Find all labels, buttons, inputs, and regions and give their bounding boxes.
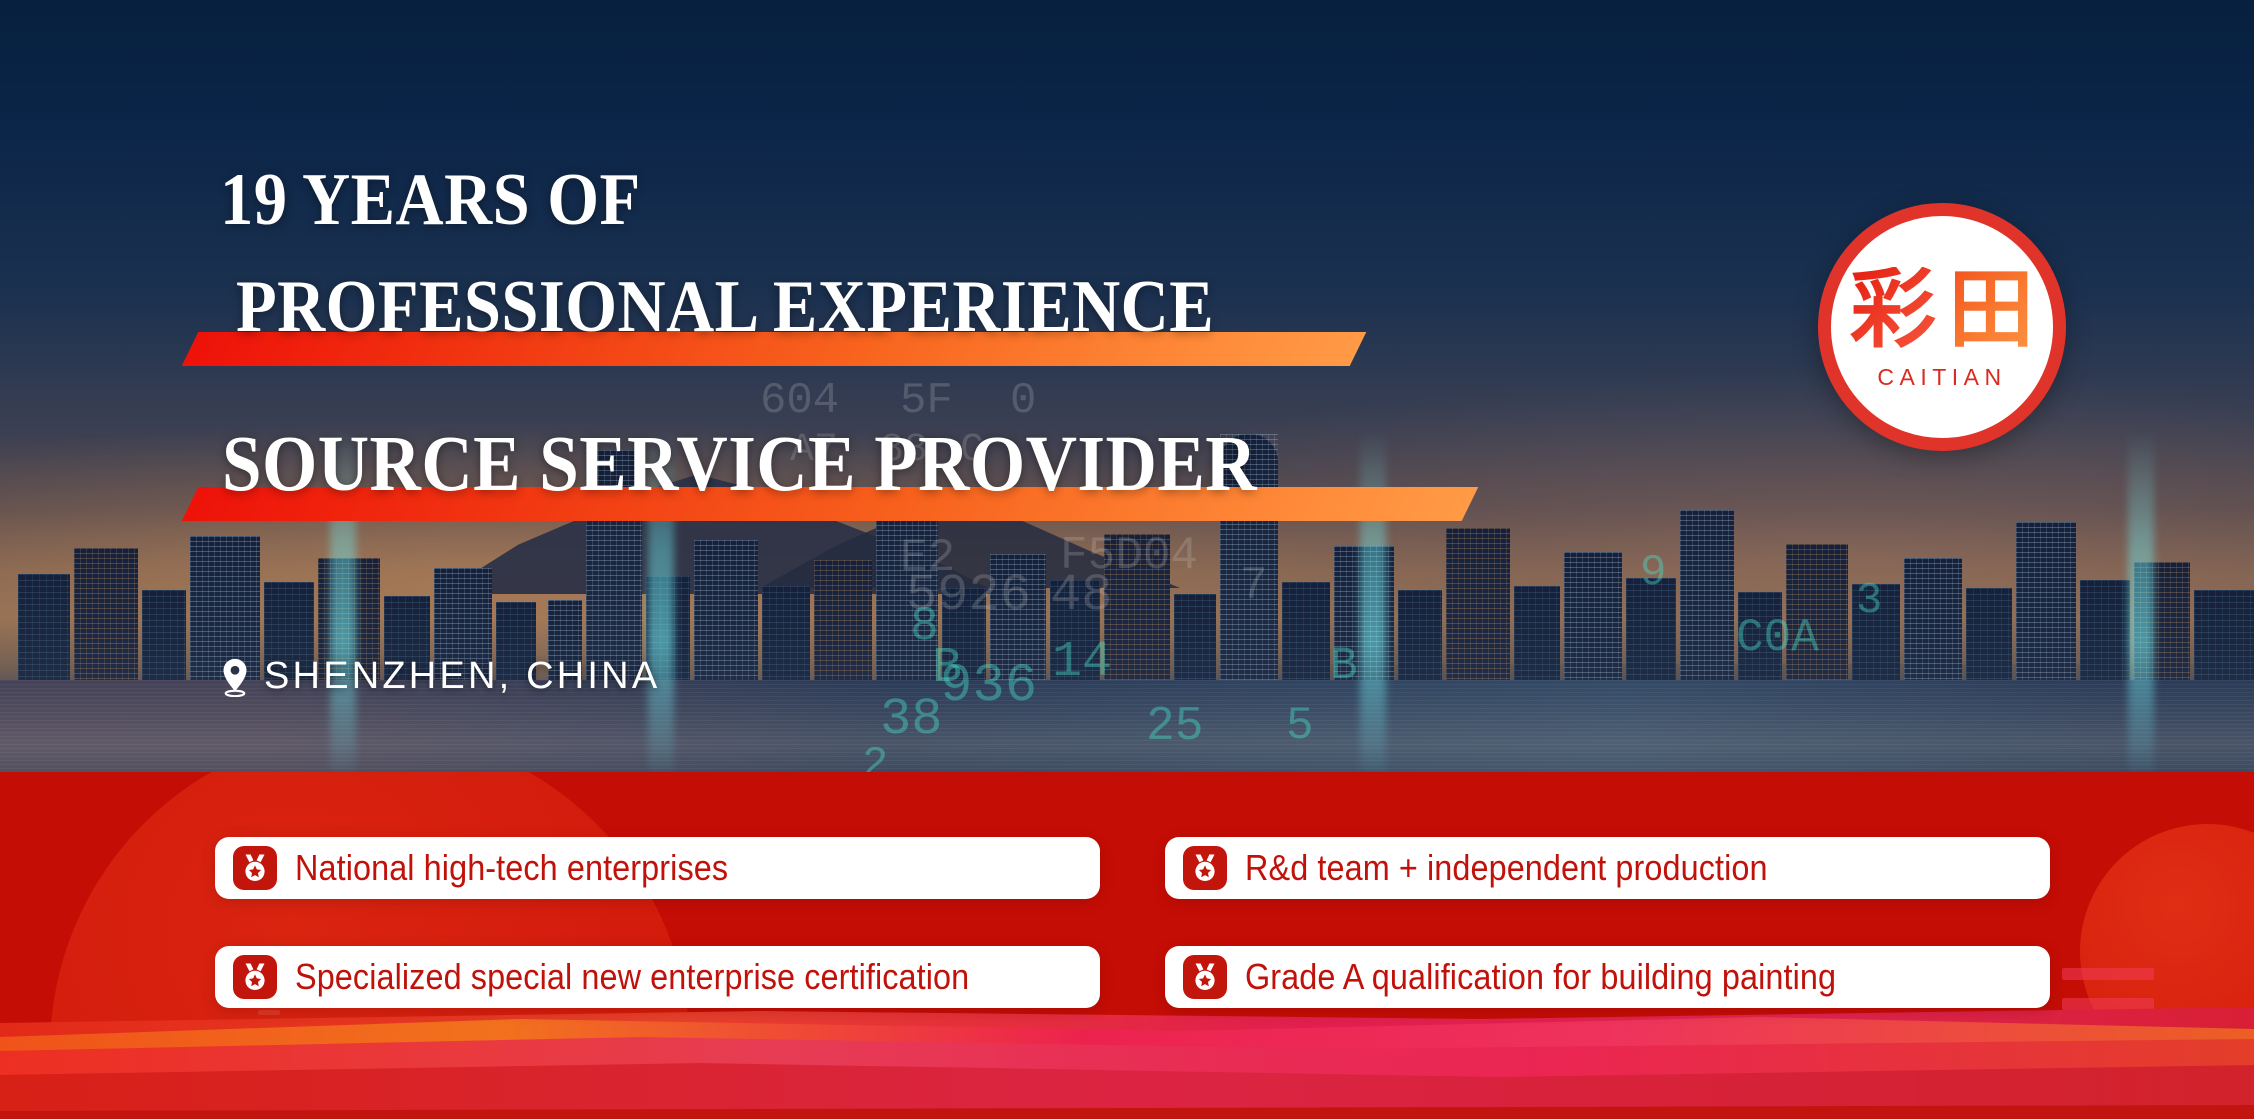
feature-label: Specialized special new enterprise certi… [295,956,969,998]
headline-line-1: 19 YEARS OF [220,158,641,243]
location-block: SHENZHEN, CHINA [220,655,660,698]
map-pin-icon [220,657,250,697]
location-text: SHENZHEN, CHINA [264,655,660,698]
medal-icon [1183,955,1227,999]
headline-line-3: SOURCE SERVICE PROVIDER [222,420,1257,510]
feature-pill[interactable]: R&d team + independent production [1165,837,2050,899]
company-logo-badge[interactable]: 彩 田 CAITIAN [1818,203,2066,451]
feature-pill[interactable]: National high-tech enterprises [215,837,1100,899]
logo-char-cai: 彩 [1850,267,1936,353]
logo-char-tian: 田 [1948,267,2034,353]
hero-section: 604 5F 0 A7 88 C E2 F5D04 5926 48 7 8 B … [0,0,2254,772]
feature-pill[interactable]: Specialized special new enterprise certi… [215,946,1100,1008]
features-section: National high-tech enterprises R&d team … [0,772,2254,1119]
feature-label: R&d team + independent production [1245,847,1768,889]
medal-icon [233,955,277,999]
medal-icon [233,846,277,890]
feature-label: Grade A qualification for building paint… [1245,956,1836,998]
medal-icon [1183,846,1227,890]
feature-pill[interactable]: Grade A qualification for building paint… [1165,946,2050,1008]
feature-pill-list: National high-tech enterprises R&d team … [0,772,2254,1119]
logo-wordmark: CAITIAN [1877,364,2006,391]
logo-characters: 彩 田 [1850,264,2034,356]
headline-line-2: PROFESSIONAL EXPERIENCE [236,265,1214,350]
feature-label: National high-tech enterprises [295,847,728,889]
promo-banner: 604 5F 0 A7 88 C E2 F5D04 5926 48 7 8 B … [0,0,2254,1119]
